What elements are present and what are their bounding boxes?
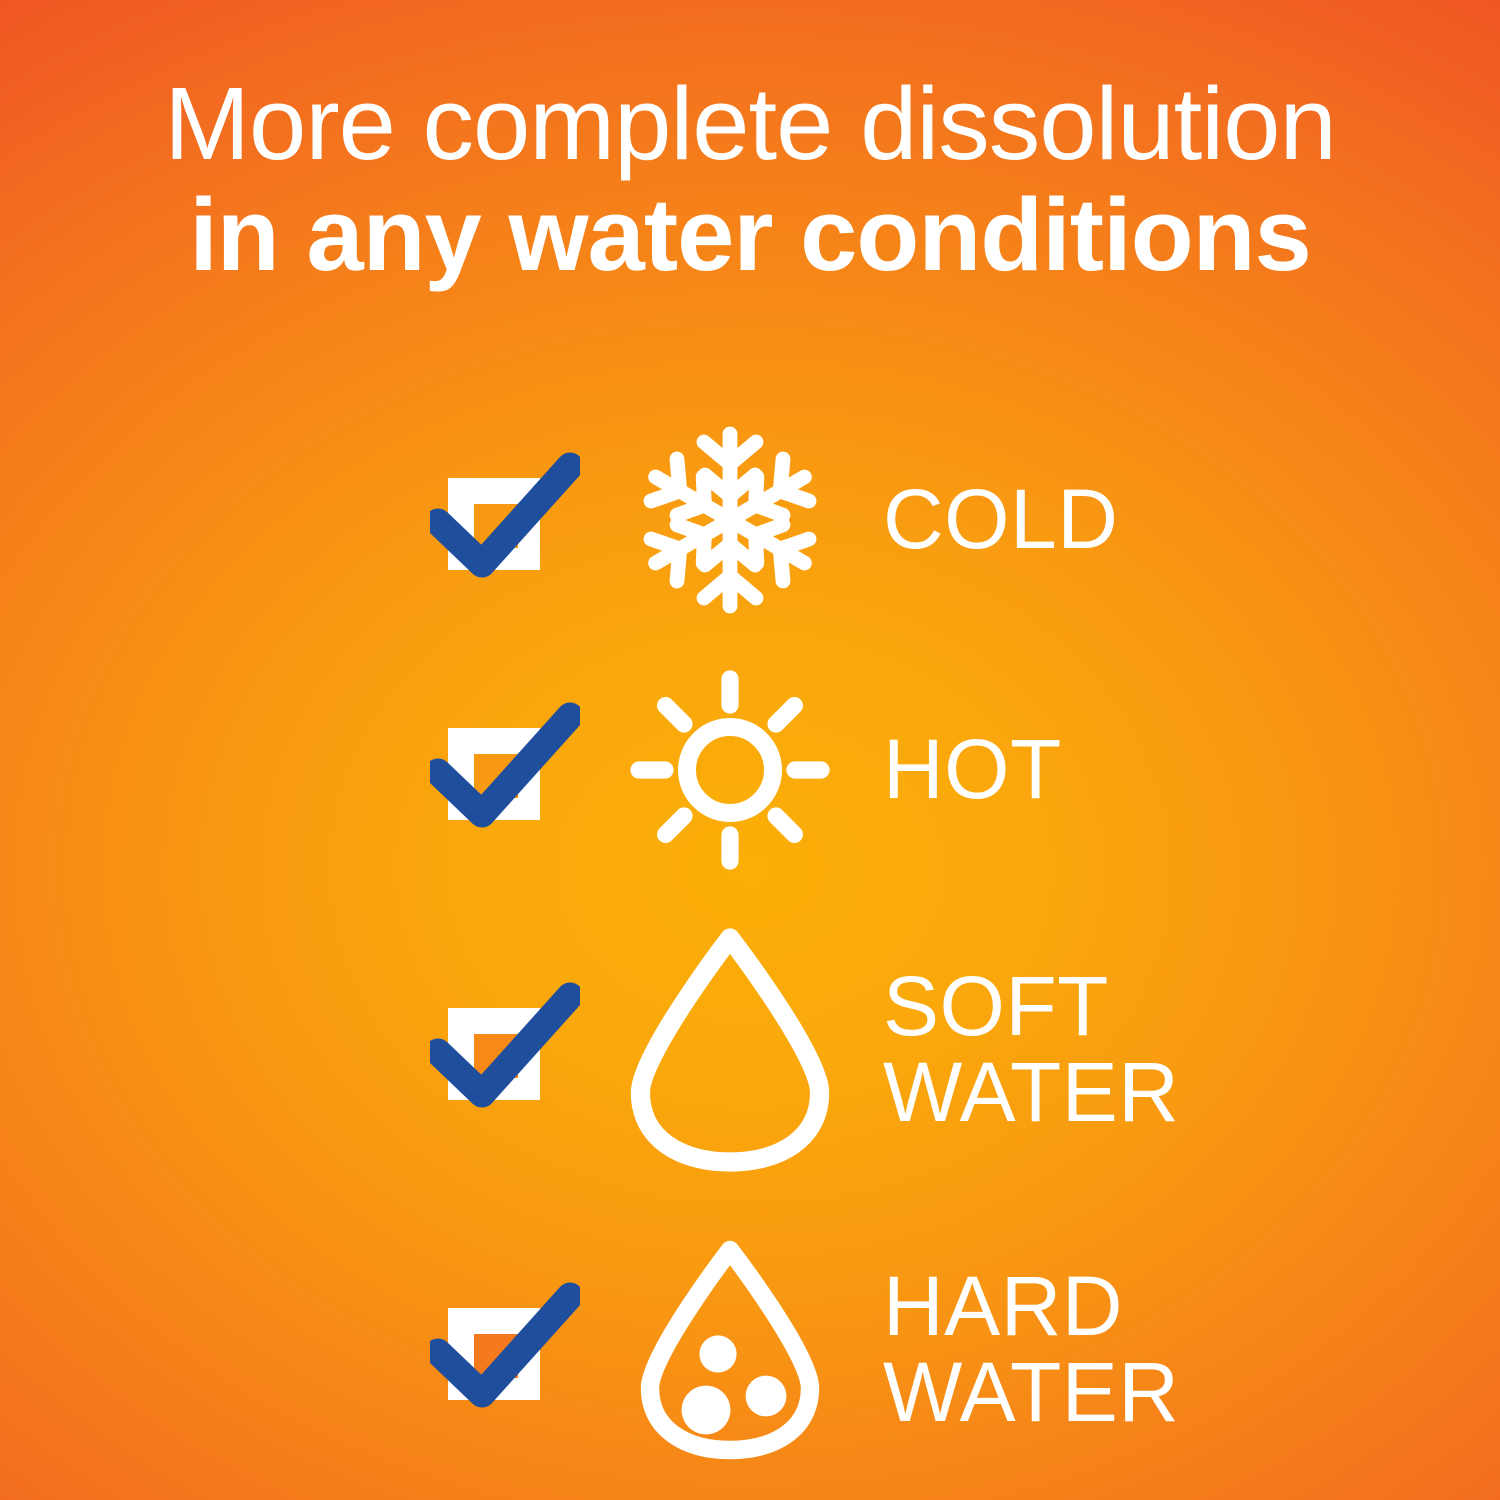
list-item: SOFT WATER <box>430 915 1330 1185</box>
sun-icon <box>630 670 830 870</box>
list-item: HARD WATER <box>430 1215 1330 1485</box>
page-title-line-2: in any water conditions <box>0 183 1500 286</box>
icon-cell <box>605 420 855 620</box>
page-title-line-1: More complete dissolution <box>0 72 1500 175</box>
promo-graphic: More complete dissolution in any water c… <box>0 0 1500 1500</box>
checkbox-cell <box>430 1270 605 1430</box>
list-item-label: HARD WATER <box>855 1264 1330 1435</box>
mineral-dot <box>746 1376 787 1417</box>
checkbox-cell <box>430 440 605 600</box>
snowflake-icon <box>630 420 830 620</box>
checkbox-cell <box>430 970 605 1130</box>
checkmark-box-icon <box>430 440 580 600</box>
page-title: More complete dissolution in any water c… <box>0 72 1500 286</box>
mineral-dot <box>699 1335 736 1372</box>
list-item: HOT <box>430 655 1330 885</box>
checkmark-box-icon <box>430 690 580 850</box>
checkbox-checked-hard-water[interactable] <box>430 1270 580 1430</box>
icon-cell <box>605 1236 855 1464</box>
mineral-dot <box>682 1386 731 1435</box>
feature-list: COLD <box>0 385 1500 1465</box>
checkbox-checked-hot[interactable] <box>430 690 580 850</box>
water-drop-icon <box>618 924 842 1176</box>
water-drop-minerals-icon <box>630 1236 830 1464</box>
list-item: COLD <box>430 405 1330 635</box>
checkmark-box-icon <box>430 970 580 1130</box>
icon-cell <box>605 924 855 1176</box>
list-item-label: HOT <box>855 727 1330 813</box>
list-item-label: SOFT WATER <box>855 964 1330 1135</box>
icon-cell <box>605 670 855 870</box>
checkbox-cell <box>430 690 605 850</box>
checkmark-box-icon <box>430 1270 580 1430</box>
list-item-label: COLD <box>855 477 1330 563</box>
checkbox-checked-cold[interactable] <box>430 440 580 600</box>
checkbox-checked-soft-water[interactable] <box>430 970 580 1130</box>
